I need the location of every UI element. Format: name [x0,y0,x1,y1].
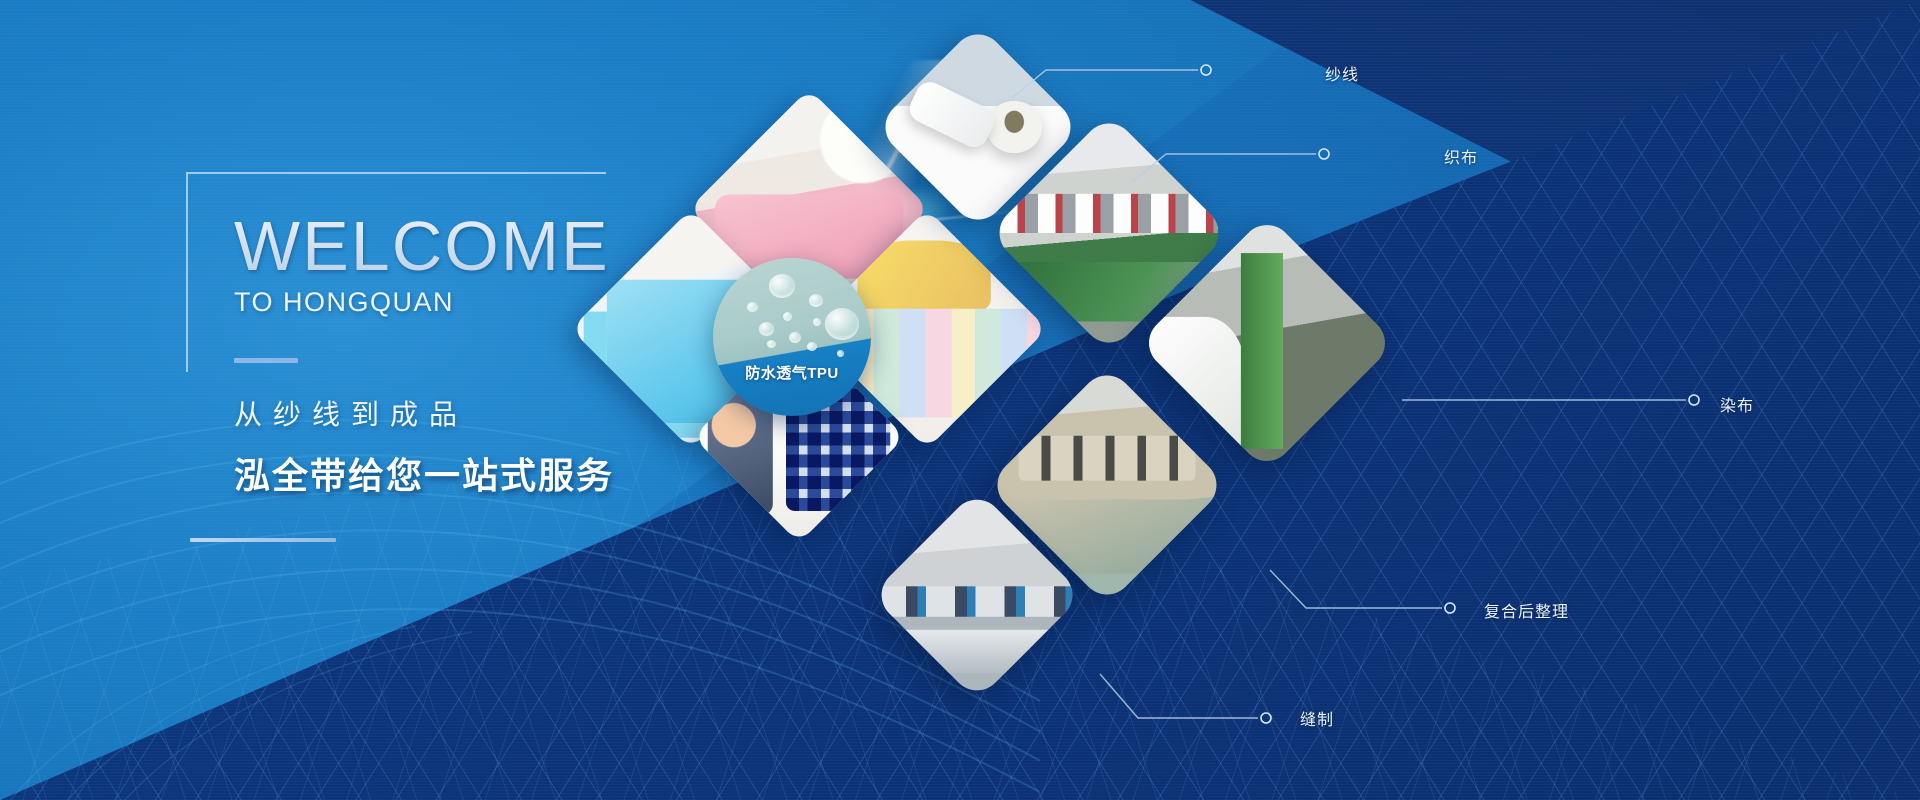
process-label-weaving: 织布 [1444,144,1478,168]
process-label-lamination: 复合后整理 [1484,598,1569,622]
process-label-yarn-text: 纱线 [1325,61,1359,85]
water-droplets-icon [713,258,871,416]
process-label-weaving-text: 织布 [1444,144,1478,168]
hero-banner: WELCOME TO HONGQUAN 从纱线到成品 泓全带给您一站式服务 [0,0,1920,800]
accent-rule [234,358,298,363]
process-label-yarn: 纱线 [1325,61,1359,85]
process-label-sewing: 缝制 [1300,706,1334,730]
process-label-sewing-text: 缝制 [1300,706,1334,730]
process-label-lamination-text: 复合后整理 [1484,598,1569,622]
process-label-dyeing: 染布 [1720,392,1754,416]
badge-label: 防水透气TPU [713,362,871,383]
process-label-dyeing-text: 染布 [1720,392,1754,416]
waterproof-tpu-badge[interactable]: 防水透气TPU [713,258,871,416]
bottom-accent-rule [190,538,336,542]
